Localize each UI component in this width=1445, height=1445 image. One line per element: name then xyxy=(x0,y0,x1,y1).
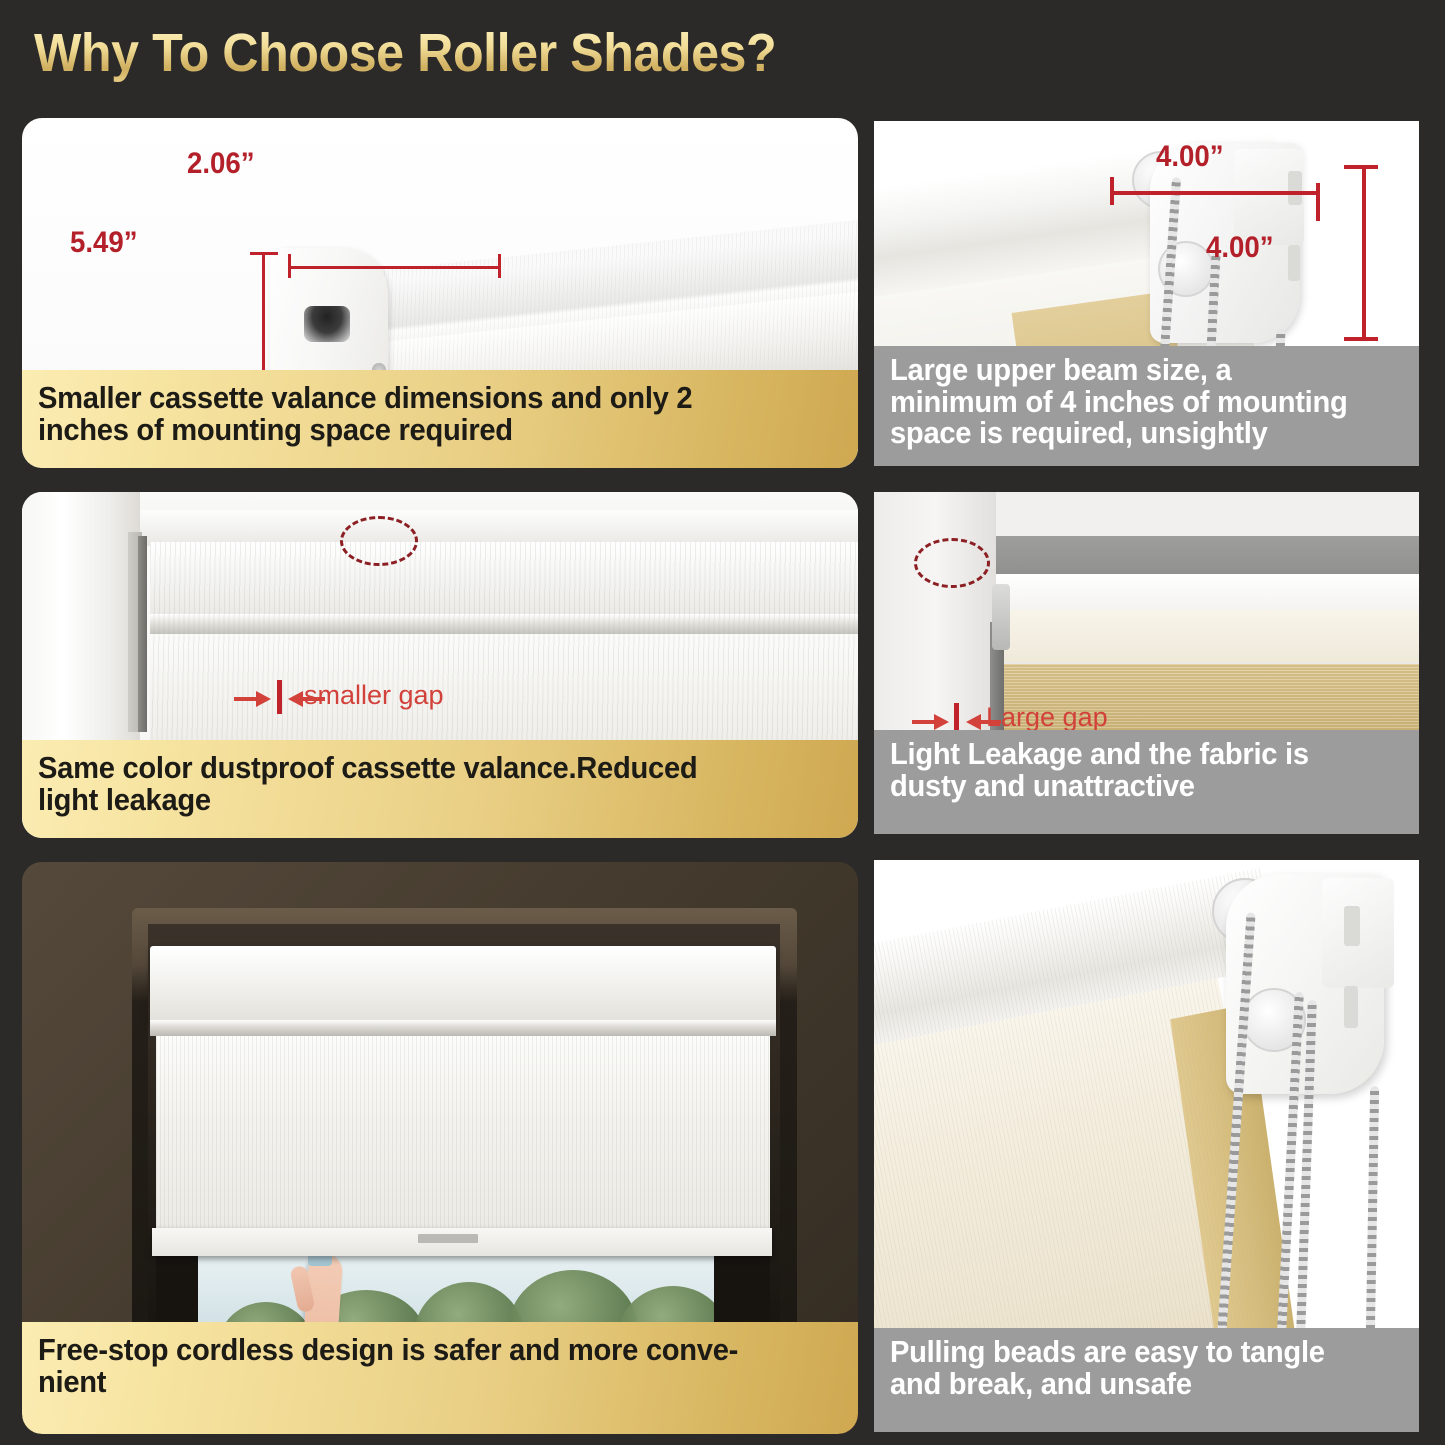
dimension-label-height: 4.00” xyxy=(1206,231,1274,265)
caption-line-1: Light Leakage and the fabric is xyxy=(890,738,1372,770)
dimension-tick-left xyxy=(1110,177,1114,205)
caption-dustproof-cassette-valance: Same color dustproof cassette valance.Re… xyxy=(22,740,858,838)
panel-large-upper-beam: 4.00” 4.00” Large upper beam size, a min… xyxy=(874,121,1419,466)
panel-pulling-beads-unsafe: Pulling beads are easy to tangle and bre… xyxy=(874,860,1419,1432)
gap-label-large: Large gap xyxy=(986,702,1108,733)
bead-chain xyxy=(1366,1086,1379,1336)
dimension-tick-top xyxy=(1344,165,1378,169)
caption-line-1: Smaller cassette valance dimensions and … xyxy=(38,382,794,414)
caption-line-2: minimum of 4 inches of mounting xyxy=(890,386,1372,418)
panel-light-leakage-dusty-fabric: Large gap Light Leakage and the fabric i… xyxy=(874,492,1419,834)
dimension-tick-right xyxy=(498,254,501,278)
caption-line-3: space is required, unsightly xyxy=(890,417,1372,449)
gap-arrow-right-icon xyxy=(256,691,271,707)
caption-line-1: Same color dustproof cassette valance.Re… xyxy=(38,752,794,784)
caption-light-leakage-dusty-fabric: Light Leakage and the fabric is dusty an… xyxy=(874,730,1419,834)
dimension-tick-left xyxy=(288,254,291,278)
gap-arrow-stem-left xyxy=(912,720,936,724)
dimension-line-height xyxy=(1362,165,1366,341)
dimension-label-height: 5.49” xyxy=(70,226,138,260)
highlight-ellipse-gap xyxy=(914,538,990,588)
dimension-tick-right xyxy=(1316,183,1320,221)
gap-arrow-right-icon xyxy=(934,714,949,730)
gap-arrow-left-icon xyxy=(288,691,303,707)
caption-line-1: Pulling beads are easy to tangle xyxy=(890,1336,1372,1368)
dimension-tick-top xyxy=(250,252,278,255)
caption-cassette-valance-dimensions: Smaller cassette valance dimensions and … xyxy=(22,370,858,468)
caption-line-2: nient xyxy=(38,1366,794,1398)
gap-arrow-stem-left xyxy=(234,697,258,701)
page-title: Why To Choose Roller Shades? xyxy=(34,22,776,84)
caption-line-1: Large upper beam size, a xyxy=(890,354,1372,386)
cassette-valance xyxy=(150,946,776,1024)
caption-free-stop-cordless-design: Free-stop cordless design is safer and m… xyxy=(22,1322,858,1434)
caption-line-2: inches of mounting space required xyxy=(38,414,794,446)
caption-line-2: dusty and unattractive xyxy=(890,770,1372,802)
dimension-line-width xyxy=(1110,191,1320,195)
caption-line-2: light leakage xyxy=(38,784,794,816)
panel-free-stop-cordless-design: Free-stop cordless design is safer and m… xyxy=(22,862,858,1434)
dimension-line-width xyxy=(288,266,500,269)
panel-dustproof-cassette-valance: smaller gap Same color dustproof cassett… xyxy=(22,492,858,838)
caption-pulling-beads-unsafe: Pulling beads are easy to tangle and bre… xyxy=(874,1328,1419,1432)
highlight-ellipse-gap xyxy=(340,516,418,566)
dimension-label-width: 2.06” xyxy=(187,147,255,181)
caption-large-upper-beam: Large upper beam size, a minimum of 4 in… xyxy=(874,346,1419,466)
dimension-tick-bottom xyxy=(1344,337,1378,341)
gap-arrow-left-icon xyxy=(966,714,981,730)
panel-cassette-valance-dimensions: 5.49” 2.06” Smaller cassette valance dim… xyxy=(22,118,858,468)
dimension-label-width: 4.00” xyxy=(1156,140,1224,174)
gap-marker xyxy=(277,680,282,714)
caption-line-2: and break, and unsafe xyxy=(890,1368,1372,1400)
caption-line-1: Free-stop cordless design is safer and m… xyxy=(38,1334,794,1366)
gap-label-smaller: smaller gap xyxy=(304,680,444,711)
